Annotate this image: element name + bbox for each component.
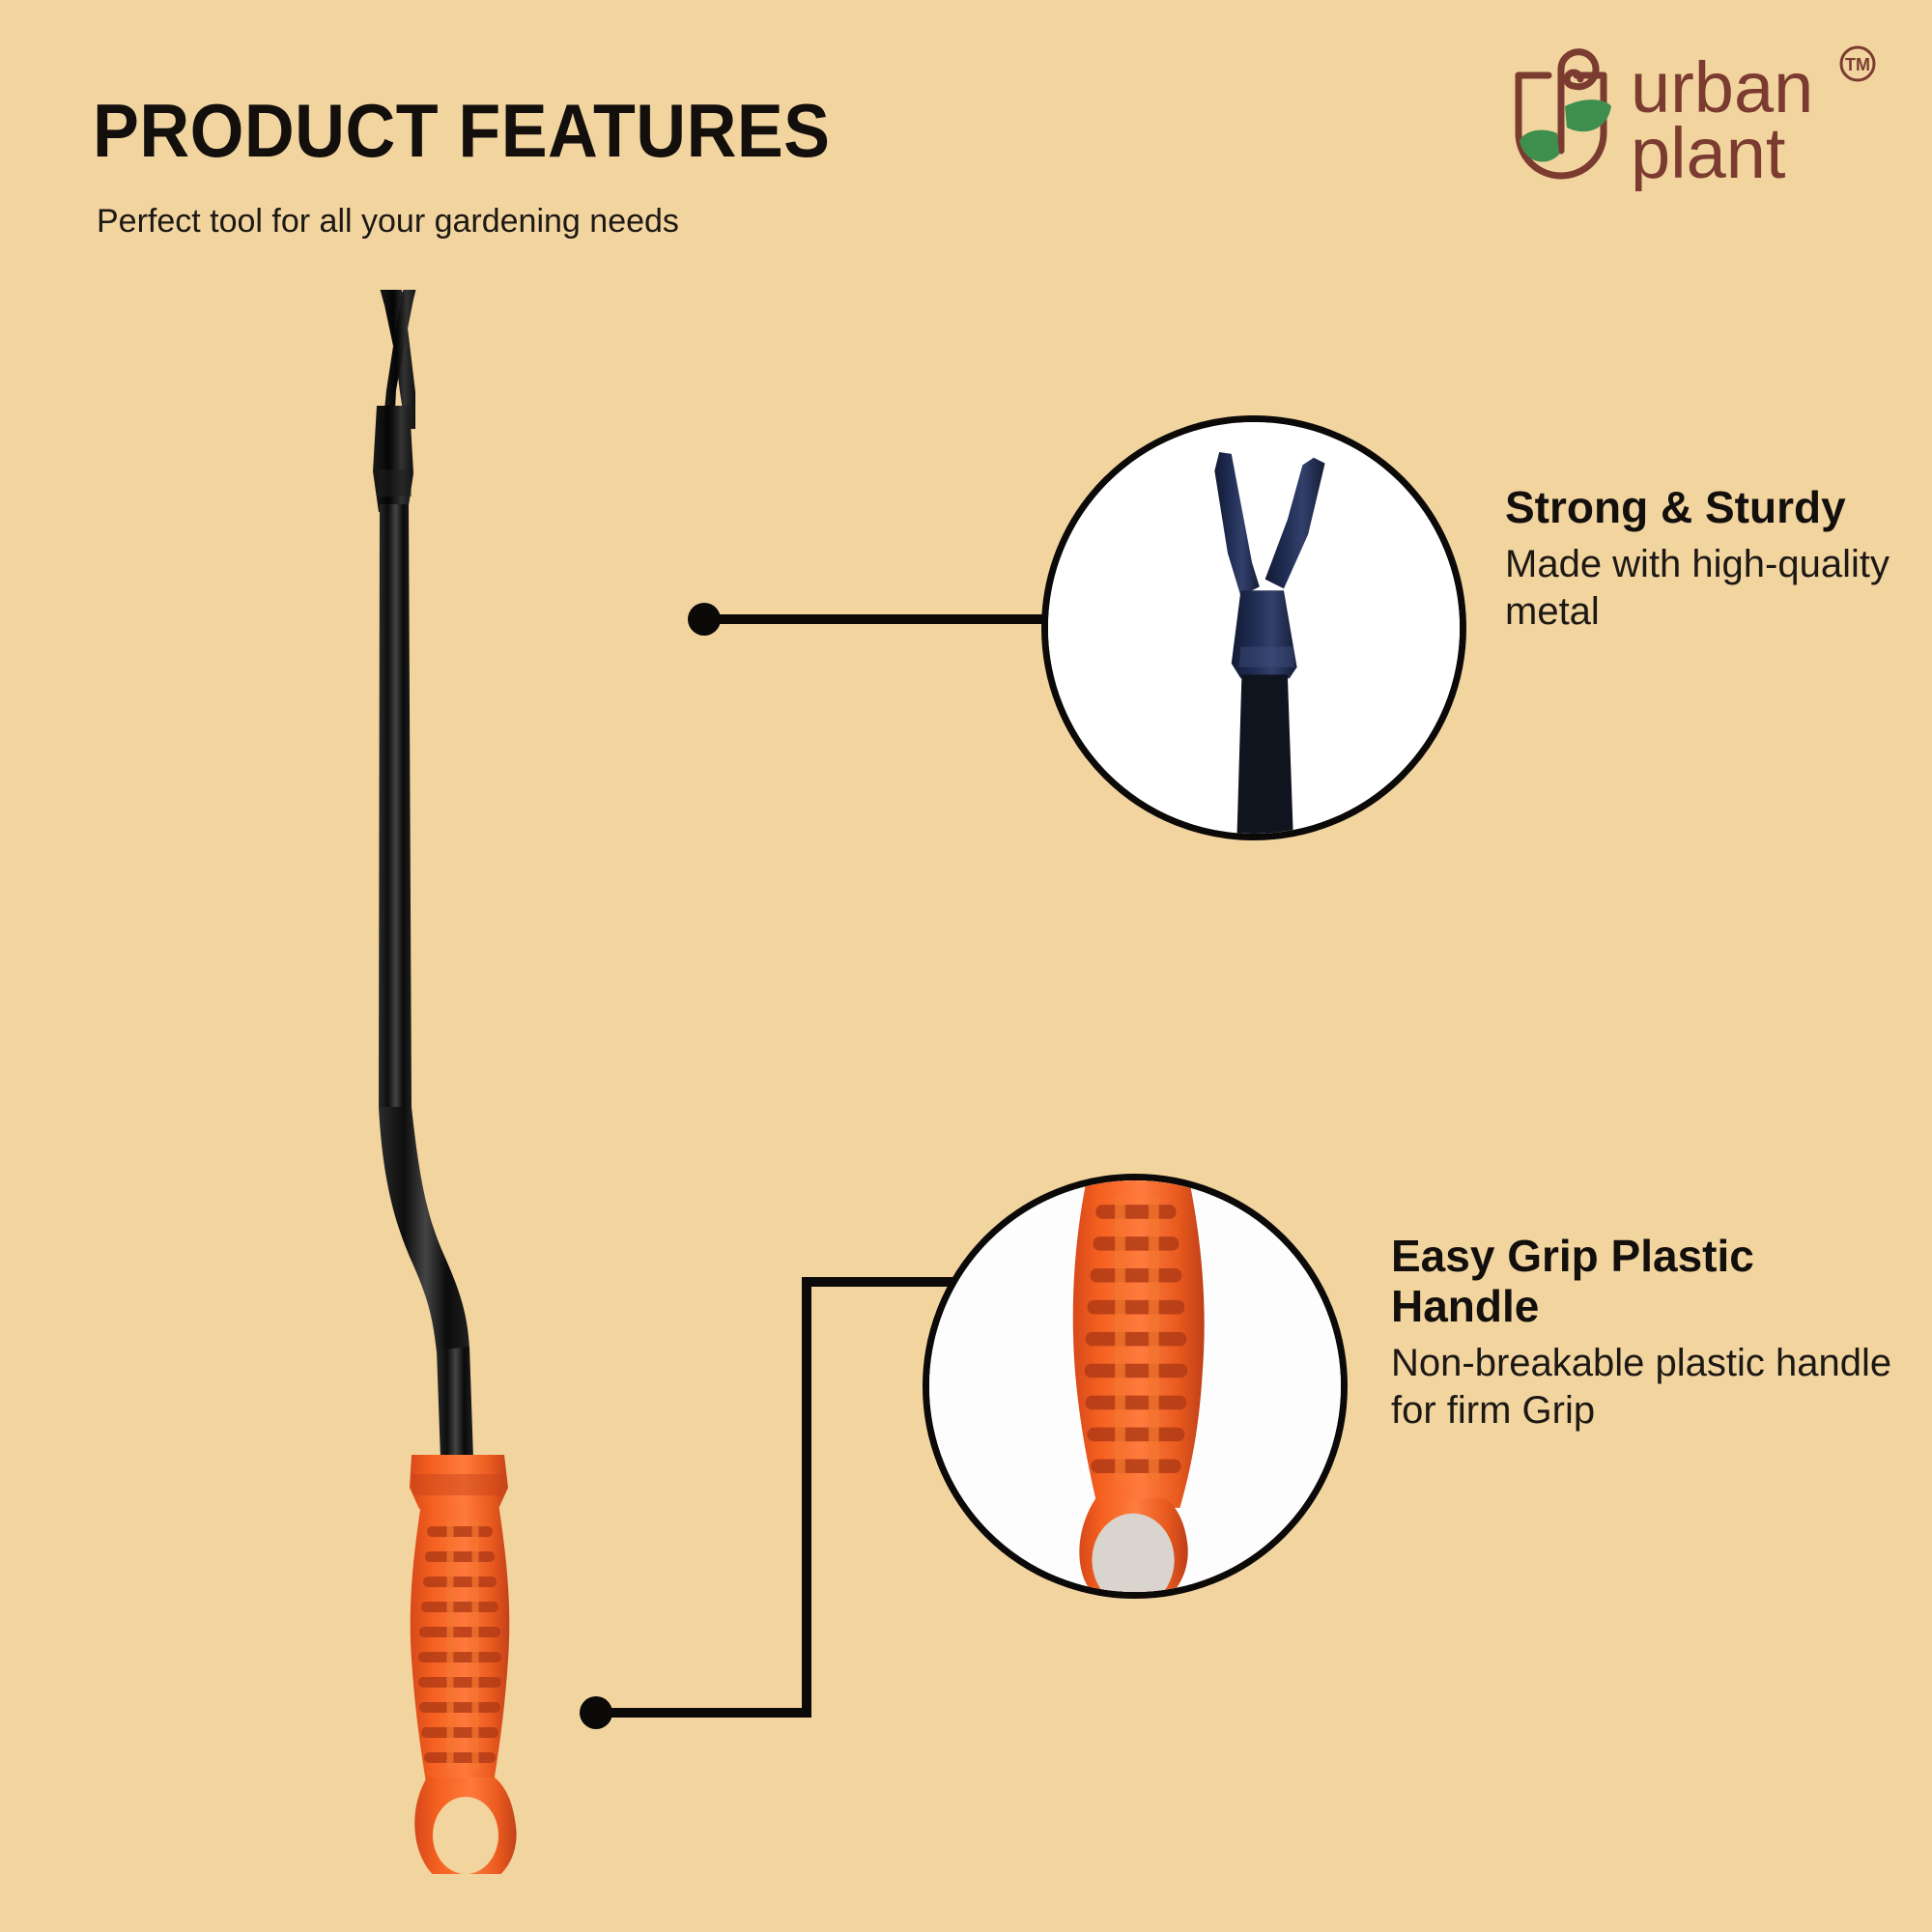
handle-collar-shadow (412, 1474, 504, 1495)
forked-tip (373, 290, 417, 512)
connector-line-strong-sturdy (715, 614, 1048, 624)
feature-title-easy-grip: Easy Grip Plastic Handle (1391, 1232, 1893, 1332)
shaft-bend (379, 1107, 469, 1352)
page-subtitle: Perfect tool for all your gardening need… (97, 205, 679, 238)
connector-line-easy-grip-vertical (802, 1277, 811, 1714)
shaft-upper (379, 504, 412, 1107)
page-title: PRODUCT FEATURES (93, 93, 831, 168)
connector-line-easy-grip-horizontal-lower (607, 1708, 811, 1718)
shaft-lower (437, 1347, 473, 1459)
handle-loop-hole (433, 1797, 498, 1874)
grip-handle-ribs (1085, 1205, 1188, 1473)
product-image-weeder-tool (319, 290, 667, 1874)
trademark-label: TM (1845, 55, 1870, 74)
feature-description-easy-grip: Non-breakable plastic handle for firm Gr… (1391, 1340, 1893, 1435)
feature-easy-grip: Easy Grip Plastic Handle Non-breakable p… (1391, 1232, 1893, 1435)
handle-body (411, 1503, 510, 1789)
logo-wordmark-plant: plant (1631, 113, 1786, 191)
feature-strong-sturdy: Strong & Sturdy Made with high-quality m… (1505, 483, 1891, 636)
infographic-canvas: PRODUCT FEATURES Perfect tool for all yo… (0, 0, 1932, 1932)
brand-logo: urban plant TM (1495, 37, 1882, 191)
feature-description-strong-sturdy: Made with high-quality metal (1505, 541, 1891, 636)
feature-title-strong-sturdy: Strong & Sturdy (1505, 483, 1891, 533)
weeder-tip-shaft (1237, 674, 1293, 834)
callout-circle-strong-sturdy (1041, 415, 1466, 840)
callout-circle-easy-grip (923, 1174, 1348, 1599)
